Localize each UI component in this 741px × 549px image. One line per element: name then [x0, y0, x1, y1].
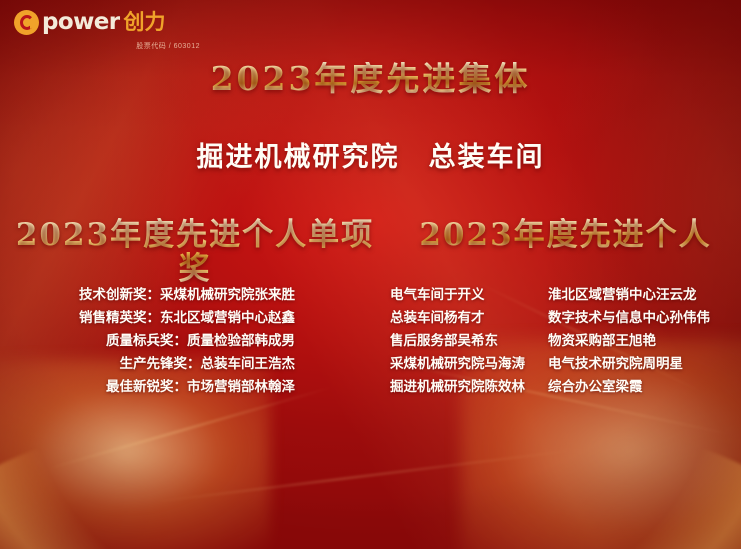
honoree-name: 电气车间于开义 — [390, 284, 548, 307]
honoree-name: 综合办公室梁霞 — [548, 376, 741, 399]
list-item: 最佳新锐奖：市场营销部林翰泽 — [106, 376, 295, 399]
list-item: 质量标兵奖：质量检验部韩成男 — [106, 330, 295, 353]
page-title: 2023年度先进集体 — [0, 62, 741, 95]
brand-logo-chinese: 创力 — [123, 12, 165, 33]
honoree-name: 物资采购部王旭艳 — [548, 330, 741, 353]
honoree-name: 总装车间杨有才 — [390, 307, 548, 330]
honoree-name: 售后服务部吴希东 — [390, 330, 548, 353]
list-item: 总装车间杨有才 数字技术与信息中心孙伟伟 — [390, 307, 741, 330]
special-award-list: 技术创新奖：采煤机械研究院张来胜 销售精英奖：东北区域营销中心赵鑫 质量标兵奖：… — [0, 284, 390, 399]
list-item: 采煤机械研究院马海涛 电气技术研究院周明星 — [390, 353, 741, 376]
list-item: 售后服务部吴希东 物资采购部王旭艳 — [390, 330, 741, 353]
honoree-name: 掘进机械研究院陈效林 — [390, 376, 548, 399]
c-power-circle-logo-icon — [14, 10, 39, 35]
list-item: 技术创新奖：采煤机械研究院张来胜 — [79, 284, 295, 307]
poster-content: 2023年度先进集体 掘进机械研究院 总装车间 2023年度先进个人单项奖 20… — [0, 0, 741, 549]
honoree-name: 淮北区域营销中心汪云龙 — [548, 284, 741, 307]
brand-logo-wordmark: power — [42, 11, 119, 34]
list-item: 电气车间于开义 淮北区域营销中心汪云龙 — [390, 284, 741, 307]
brand-logo: power 创力 股票代码 / 603012 — [14, 10, 204, 51]
award-poster: power 创力 股票代码 / 603012 2023年度先进集体 掘进机械研究… — [0, 0, 741, 549]
section-headers: 2023年度先进个人单项奖 2023年度先进个人 — [0, 218, 741, 286]
section-header-individual-special-award: 2023年度先进个人单项奖 — [0, 218, 390, 286]
stock-code-label: 股票代码 / 603012 — [14, 41, 204, 51]
honoree-name: 电气技术研究院周明星 — [548, 353, 741, 376]
award-columns: 技术创新奖：采煤机械研究院张来胜 销售精英奖：东北区域营销中心赵鑫 质量标兵奖：… — [0, 284, 741, 399]
list-item: 掘进机械研究院陈效林 综合办公室梁霞 — [390, 376, 741, 399]
honoree-name: 采煤机械研究院马海涛 — [390, 353, 548, 376]
list-item: 生产先锋奖：总装车间王浩杰 — [120, 353, 296, 376]
list-item: 销售精英奖：东北区域营销中心赵鑫 — [79, 307, 295, 330]
poster-subtitle: 掘进机械研究院 总装车间 — [0, 135, 741, 174]
brand-logo-row: power 创力 — [14, 10, 204, 35]
section-header-advanced-individual: 2023年度先进个人 — [390, 218, 741, 252]
advanced-individual-list: 电气车间于开义 淮北区域营销中心汪云龙 总装车间杨有才 数字技术与信息中心孙伟伟… — [390, 284, 741, 399]
honoree-name: 数字技术与信息中心孙伟伟 — [548, 307, 741, 330]
